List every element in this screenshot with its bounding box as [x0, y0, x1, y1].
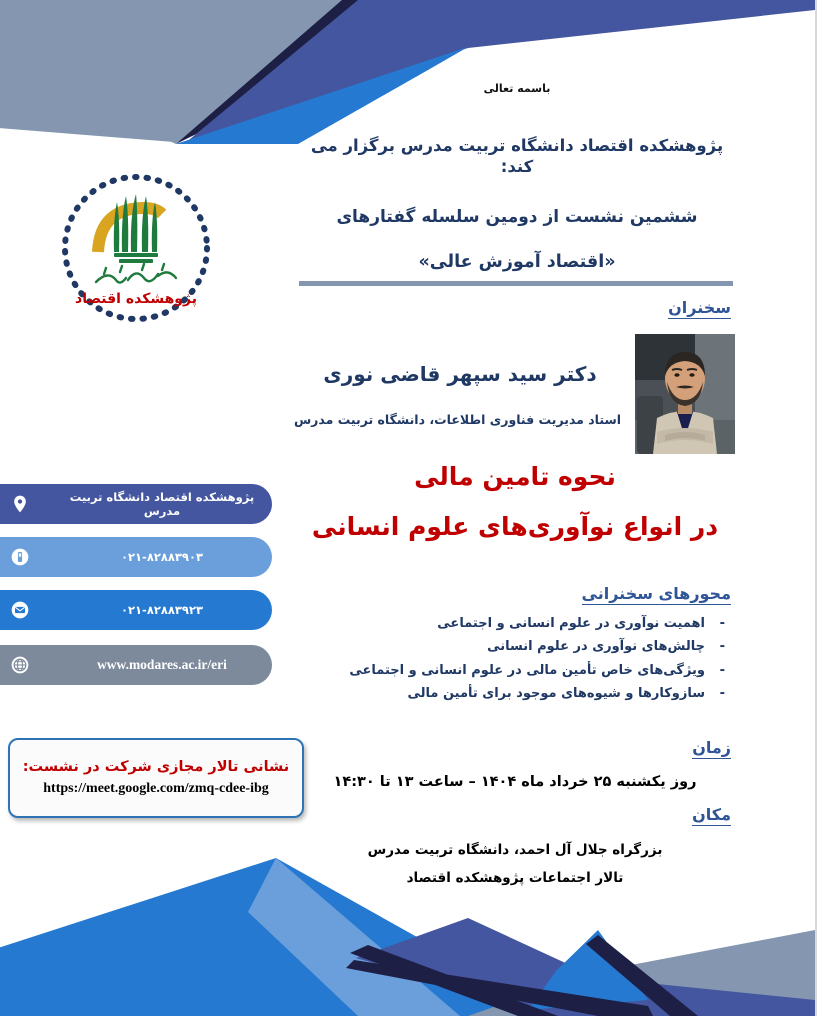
top-gray-wedge	[0, 0, 348, 144]
bottom-gray-mass	[468, 930, 815, 1016]
topics-list: اهمیت نوآوری در علوم انسانی و اجتماعی چا…	[296, 616, 731, 709]
list-item: اهمیت نوآوری در علوم انسانی و اجتماعی	[296, 616, 731, 632]
header-divider	[299, 281, 733, 286]
envelope-icon	[0, 600, 40, 620]
section-heading-time-label: زمان	[692, 738, 731, 759]
section-heading-place-label: مکان	[692, 805, 731, 826]
talk-title-line-1: نحوه تامین مالی	[295, 462, 735, 491]
list-item: سازوکارها و شیوه‌های موجود برای تأمین ما…	[296, 686, 731, 702]
section-heading-time: زمان	[692, 738, 731, 757]
contact-text-phone: ۰۲۱-۸۲۸۸۳۹۰۳	[40, 550, 272, 564]
speaker-name: دکتر سید سپهر قاضی نوری	[295, 362, 625, 386]
institute-logo: پژوهشکده اقتصاد	[58, 170, 214, 326]
section-heading-place: مکان	[692, 805, 731, 824]
logo-institute-label: پژوهشکده اقتصاد	[75, 291, 197, 307]
bottom-gray-mass-2	[538, 940, 815, 1016]
basmala-text: باسمه تعالی	[297, 82, 737, 95]
section-heading-topics: محورهای سخنرانی	[582, 584, 731, 603]
venue-hall: تالار اجتماعات پژوهشکده اقتصاد	[295, 870, 735, 886]
series-title: «اقتصاد آموزش عالی»	[297, 252, 737, 272]
speaker-portrait-illustration	[635, 334, 735, 454]
contact-text-address: پژوهشکده اقتصاد دانشگاه تربیت مدرس	[40, 490, 272, 519]
talk-title-line-2: در انواع نوآوری‌های علوم انسانی	[295, 512, 735, 541]
section-heading-topics-label: محورهای سخنرانی	[582, 584, 731, 605]
event-datetime: روز یکشنبه ۲۵ خرداد ماه ۱۴۰۴ – ساعت ۱۳ ت…	[295, 774, 735, 790]
contact-bar-fax[interactable]: ۰۲۱-۸۲۸۸۳۹۲۳	[0, 590, 272, 630]
speaker-affiliation: استاد مدیریت فناوری اطلاعات، دانشگاه ترب…	[290, 412, 625, 427]
venue-address: بزرگراه جلال آل احمد، دانشگاه تربیت مدرس	[295, 842, 735, 858]
list-item: ویژگی‌های خاص تأمین مالی در علوم انسانی …	[296, 663, 731, 679]
meeting-url-link[interactable]: https://meet.google.com/zmq-cdee-ibg	[43, 781, 269, 797]
section-heading-speaker-label: سخنران	[668, 298, 731, 319]
contact-bar-website[interactable]: www.modares.ac.ir/eri	[0, 645, 272, 685]
bottom-navy-stroke-1	[350, 945, 558, 1016]
logo-university-script	[96, 264, 176, 283]
section-heading-speaker: سخنران	[668, 298, 731, 317]
speaker-photo	[635, 334, 735, 454]
virtual-meeting-box[interactable]: نشانی تالار مجازی شرکت در نشست: https://…	[8, 738, 304, 818]
poster-header: باسمه تعالی پژوهشکده اقتصاد دانشگاه تربی…	[297, 82, 737, 272]
top-gray-wedge-2	[0, 0, 348, 142]
location-pin-icon	[0, 494, 40, 514]
contact-bar-phone[interactable]: ۰۲۱-۸۲۸۸۳۹۰۳	[0, 537, 272, 577]
globe-icon	[0, 655, 40, 675]
series-line: ششمین نشست از دومین سلسله گفتارهای	[297, 206, 737, 228]
bottom-navy-stroke-2	[346, 960, 653, 1016]
bottom-indigo-shape	[356, 918, 815, 1016]
phone-icon	[0, 547, 40, 567]
institute-logo-graphic: پژوهشکده اقتصاد	[58, 170, 214, 326]
contact-bar-address[interactable]: پژوهشکده اقتصاد دانشگاه تربیت مدرس	[0, 484, 272, 524]
bottom-blue-peak	[528, 930, 648, 1010]
meeting-box-title: نشانی تالار مجازی شرکت در نشست:	[23, 759, 290, 775]
contact-text-website: www.modares.ac.ir/eri	[40, 657, 272, 674]
list-item: چالش‌های نوآوری در علوم انسانی	[296, 639, 731, 655]
event-poster: باسمه تعالی پژوهشکده اقتصاد دانشگاه تربی…	[0, 0, 817, 1016]
bottom-navy-stroke-3	[586, 935, 698, 1016]
contact-text-fax: ۰۲۱-۸۲۸۸۳۹۲۳	[40, 603, 272, 617]
host-line: پژوهشکده اقتصاد دانشگاه تربیت مدرس برگزا…	[297, 135, 737, 178]
